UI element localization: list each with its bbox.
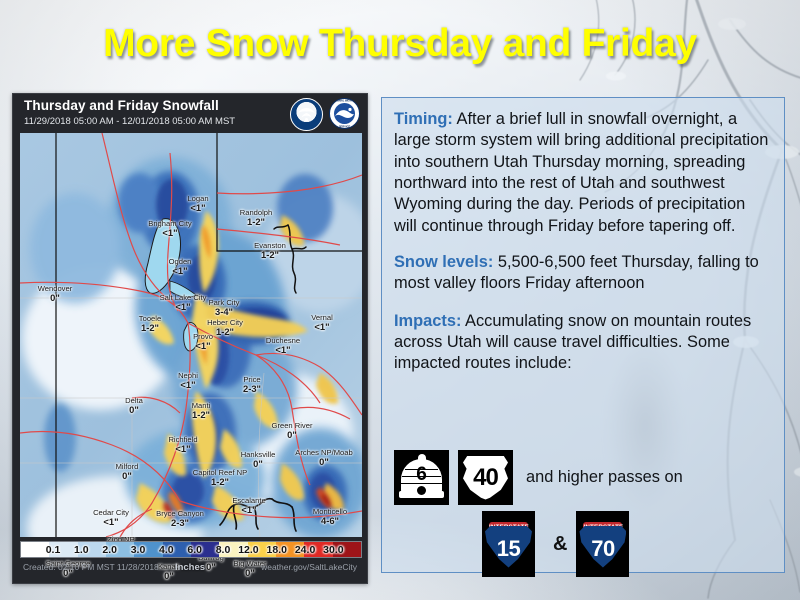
utah-route-6-number: 6	[399, 464, 444, 486]
map-city-label: Brigham City<1"	[148, 220, 191, 238]
us-shield-icon: 40	[463, 456, 508, 500]
map-title: Thursday and Friday Snowfall	[24, 98, 219, 113]
colorbar-tick-label: 18.0	[267, 544, 287, 556]
city-snowfall-value: <1"	[93, 517, 129, 527]
map-city-label: Vernal<1"	[311, 314, 333, 332]
map-city-label: Delta0"	[125, 397, 143, 415]
svg-text:NATIONAL WEATHER: NATIONAL WEATHER	[331, 99, 358, 103]
colorbar-tick-label: 24.0	[295, 544, 315, 556]
map-city-label: Hanksville0"	[241, 451, 276, 469]
city-snowfall-value: <1"	[178, 380, 198, 390]
us-route-40-number: 40	[463, 464, 508, 492]
city-snowfall-value: 0"	[295, 457, 352, 467]
city-snowfall-value: <1"	[148, 228, 191, 238]
map-city-label: Ogden<1"	[169, 258, 192, 276]
map-city-label: Manti1-2"	[192, 402, 211, 420]
map-city-label: Cedar City<1"	[93, 509, 129, 527]
map-city-label: Logan<1"	[187, 195, 208, 213]
impacts-paragraph: Impacts: Accumulating snow on mountain r…	[394, 311, 772, 375]
snowfall-map-panel: Thursday and Friday Snowfall 11/29/2018 …	[12, 93, 368, 584]
ampersand: &	[553, 533, 567, 556]
city-snowfall-value: 1-2"	[193, 477, 247, 487]
map-valid-period: 11/29/2018 05:00 AM - 12/01/2018 05:00 A…	[24, 116, 235, 127]
colorbar-segment: 0.1	[21, 542, 49, 557]
map-header: Thursday and Friday Snowfall 11/29/2018 …	[13, 94, 367, 133]
city-snowfall-value: 2-3"	[243, 384, 261, 394]
map-city-label: Escalante<1"	[232, 497, 265, 515]
map-city-label: Nephi<1"	[178, 372, 198, 390]
colorbar-tick-label: 4.0	[159, 544, 174, 556]
utah-route-6-shield: 6	[394, 450, 449, 505]
timing-text: After a brief lull in snowfall overnight…	[394, 110, 768, 235]
map-city-label: Green River0"	[272, 422, 313, 440]
map-city-label: Duchesne<1"	[266, 337, 300, 355]
city-snowfall-value: 0"	[38, 293, 72, 303]
map-city-label: Evanston1-2"	[254, 242, 286, 260]
map-city-label: Capitol Reef NP1-2"	[193, 469, 247, 487]
city-snowfall-value: 1-2"	[240, 217, 273, 227]
colorbar-tick-label: 30.0	[323, 544, 343, 556]
interstate-70-number: 70	[579, 536, 626, 562]
map-city-label: Salt Lake City<1"	[160, 294, 207, 312]
city-snowfall-value: <1"	[168, 444, 197, 454]
interstate-shield-icon: INTERSTATE 70	[579, 521, 626, 568]
city-snowfall-value: <1"	[169, 266, 192, 276]
map-website-credit: weather.gov/SaltLakeCity	[261, 562, 357, 572]
interstate-15-shield: INTERSTATE 15	[482, 511, 535, 577]
city-snowfall-value: 0"	[272, 430, 313, 440]
colorbar-tick-label: 0.1	[46, 544, 61, 556]
noaa-logo	[290, 98, 323, 131]
colorbar-tick-label: 6.0	[187, 544, 202, 556]
map-city-label: Monticello4-6"	[313, 508, 347, 526]
colorbar-tick-label: 1.0	[74, 544, 89, 556]
city-snowfall-value: <1"	[193, 341, 213, 351]
city-snowfall-value: 1-2"	[254, 250, 286, 260]
city-snowfall-value: 0"	[116, 471, 139, 481]
map-created-timestamp: Created: 02:10 PM MST 11/28/2018	[23, 562, 159, 572]
nws-logo: NATIONAL WEATHER SERVICE	[329, 98, 360, 129]
city-snowfall-value: <1"	[311, 322, 333, 332]
map-city-label: Provo<1"	[193, 333, 213, 351]
timing-label: Timing:	[394, 110, 453, 128]
snow-levels-label: Snow levels:	[394, 253, 493, 271]
city-snowfall-value: <1"	[187, 203, 208, 213]
interstate-15-number: 15	[485, 536, 532, 562]
impacts-label: Impacts:	[394, 312, 461, 330]
city-snowfall-value: <1"	[266, 345, 300, 355]
city-snowfall-value: <1"	[160, 302, 207, 312]
map-city-label: Milford0"	[116, 463, 139, 481]
map-city-label: Wendover0"	[38, 285, 72, 303]
interstate-70-shield: INTERSTATE 70	[576, 511, 629, 577]
colorbar-tick-label: 3.0	[131, 544, 146, 556]
city-snowfall-value: 2-3"	[156, 518, 204, 528]
timing-paragraph: Timing: After a brief lull in snowfall o…	[394, 109, 772, 237]
map-city-label: Arches NP/Moab0"	[295, 449, 352, 467]
us-route-40-shield: 40	[458, 450, 513, 505]
higher-passes-text: and higher passes on	[526, 468, 683, 487]
map-city-label: Park City3-4"	[209, 299, 240, 317]
map-city-label: Price2-3"	[243, 376, 261, 394]
beehive-icon: 6	[399, 455, 444, 500]
city-snowfall-value: 1-2"	[192, 410, 211, 420]
shield-row-interstates: INTERSTATE 15 & INTERSTATE 70	[482, 511, 774, 577]
page-title: More Snow Thursday and Friday	[0, 22, 800, 66]
city-snowfall-value: 4-6"	[313, 516, 347, 526]
map-city-label: Randolph1-2"	[240, 209, 273, 227]
route-shields: 6 40 and higher passes on INTERSTATE 15 …	[394, 450, 774, 577]
colorbar-tick-label: 2.0	[102, 544, 117, 556]
colorbar-tick-label: 12.0	[238, 544, 258, 556]
forecast-info-panel: Timing: After a brief lull in snowfall o…	[381, 97, 785, 573]
map-city-label: Richfield<1"	[168, 436, 197, 454]
colorbar-tick-label: 8.0	[216, 544, 231, 556]
city-snowfall-value: <1"	[232, 505, 265, 515]
map-city-label: Bryce Canyon2-3"	[156, 510, 204, 528]
snow-levels-paragraph: Snow levels: 5,500-6,500 feet Thursday, …	[394, 252, 772, 295]
map-city-label: Tooele1-2"	[139, 315, 161, 333]
city-snowfall-value: 1-2"	[139, 323, 161, 333]
shield-row-primary: 6 40 and higher passes on	[394, 450, 774, 505]
snowfall-colorbar: 0.11.02.03.04.06.08.012.018.024.030.0	[20, 541, 362, 558]
city-snowfall-value: 0"	[125, 405, 143, 415]
city-snowfall-value: 3-4"	[209, 307, 240, 317]
interstate-shield-icon: INTERSTATE 15	[485, 521, 532, 568]
svg-text:SERVICE: SERVICE	[339, 125, 351, 129]
